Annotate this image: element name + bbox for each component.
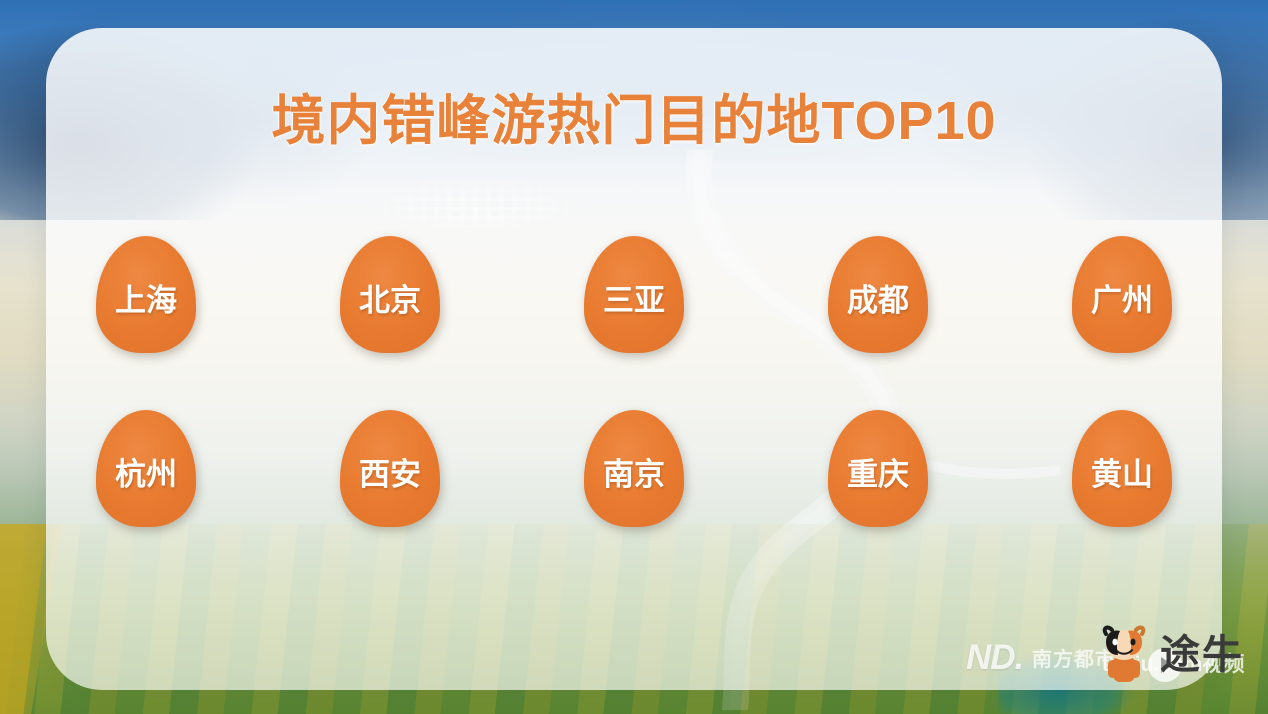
watermark-nd: ND.: [966, 638, 1023, 678]
destination-bubble-2[interactable]: 北京: [340, 236, 440, 353]
destination-label: 三亚: [603, 285, 665, 316]
cow-mascot-icon: [1096, 624, 1152, 686]
destination-label: 黄山: [1091, 459, 1153, 490]
destination-bubble-3[interactable]: 三亚: [584, 236, 684, 353]
destination-bubble-4[interactable]: 成都: [828, 236, 928, 353]
destination-label: 西安: [359, 459, 421, 490]
destination-bubble-1[interactable]: 上海: [96, 236, 196, 353]
destination-label: 北京: [359, 285, 421, 316]
destination-bubble-10[interactable]: 黄山: [1072, 410, 1172, 527]
destination-label: 广州: [1091, 285, 1153, 316]
brand-name: 途牛: [1160, 635, 1244, 675]
destination-label: 上海: [115, 285, 177, 316]
brand-logo: 途牛: [1096, 624, 1244, 686]
destination-bubble-7[interactable]: 西安: [340, 410, 440, 527]
destination-bubble-9[interactable]: 重庆: [828, 410, 928, 527]
destination-grid: 上海 北京 三亚 成都 广州 杭州 西安 南京: [96, 236, 1172, 527]
destination-bubble-6[interactable]: 杭州: [96, 410, 196, 527]
destination-label: 南京: [603, 459, 665, 490]
page-title: 境内错峰游热门目的地TOP10: [0, 76, 1268, 155]
destination-label: 杭州: [115, 459, 177, 490]
destination-label: 重庆: [847, 459, 909, 490]
destination-bubble-5[interactable]: 广州: [1072, 236, 1172, 353]
destination-bubble-8[interactable]: 南京: [584, 410, 684, 527]
destination-label: 成都: [847, 285, 909, 316]
destination-row-2: 杭州 西安 南京 重庆 黄山: [96, 410, 1172, 527]
poster-canvas: 境内错峰游热门目的地TOP10 上海 北京 三亚 成都 广州 杭州: [0, 0, 1268, 714]
destination-row-1: 上海 北京 三亚 成都 广州: [96, 236, 1172, 353]
